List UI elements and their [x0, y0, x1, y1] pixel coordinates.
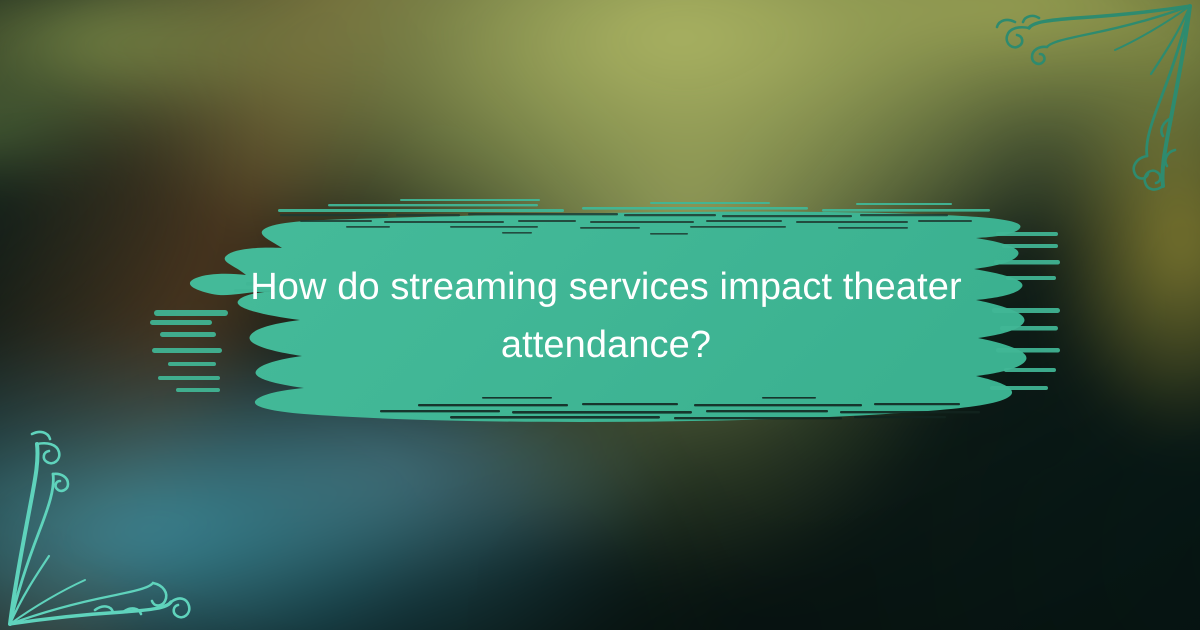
quote-card: How do streaming services impact theater…: [0, 0, 1200, 630]
headline-text: How do streaming services impact theater…: [234, 258, 978, 374]
headline-container: How do streaming services impact theater…: [150, 190, 1062, 442]
